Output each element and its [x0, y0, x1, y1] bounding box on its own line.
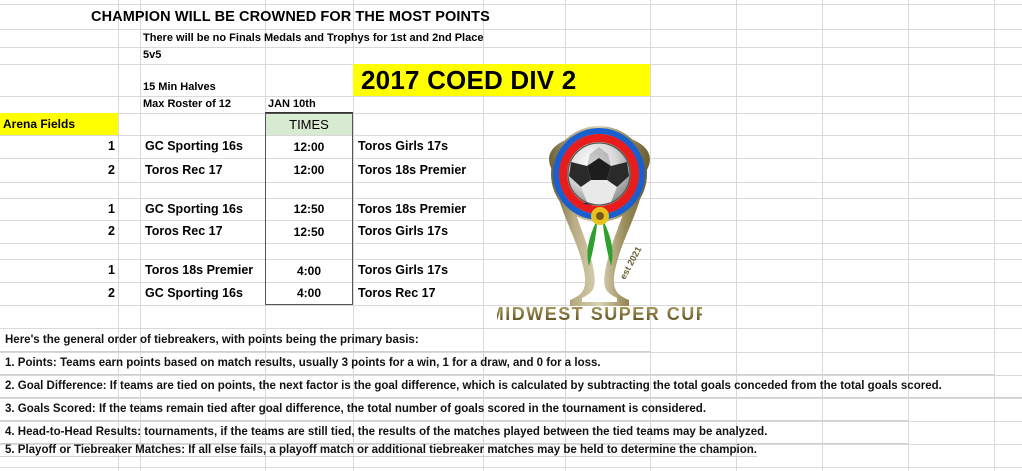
schedule-field-number: 2 — [0, 158, 118, 182]
schedule-team-home — [140, 182, 265, 198]
schedule-time — [265, 243, 353, 259]
midwest-super-cup-logo: est 2021 MIDWEST SUPER CUP — [497, 112, 702, 324]
schedule-field-number: 2 — [0, 282, 118, 305]
schedule-team-home — [140, 243, 265, 259]
format-label: 5v5 — [140, 47, 164, 64]
schedule-team-away: Toros Girls 17s — [353, 135, 483, 158]
schedule-field-number — [0, 182, 118, 198]
tiebreaker-item: 2. Goal Difference: If teams are tied on… — [0, 375, 1022, 398]
schedule-team-away: Toros 18s Premier — [353, 198, 483, 220]
tiebreaker-item: 4. Head-to-Head Results: tournaments, if… — [0, 421, 908, 444]
schedule-time — [265, 182, 353, 198]
date-header: JAN 10th — [265, 96, 353, 113]
roster-label: Max Roster of 12 — [140, 96, 234, 113]
tiebreaker-item: 1. Points: Teams earn points based on ma… — [0, 352, 994, 375]
logo-wordmark: MIDWEST SUPER CUP — [497, 304, 702, 324]
schedule-time: 12:50 — [265, 198, 353, 220]
trophy-icon: est 2021 MIDWEST SUPER CUP — [497, 112, 702, 324]
tiebreaker-item: 5. Playoff or Tiebreaker Matches: If all… — [0, 444, 757, 457]
schedule-team-away — [353, 182, 483, 198]
arena-fields-label: Arena Fields — [0, 113, 118, 135]
tiebreaker-item: 3. Goals Scored: If the teams remain tie… — [0, 398, 908, 421]
tiebreakers-intro: Here's the general order of tiebreakers,… — [0, 328, 650, 352]
schedule-team-home: Toros Rec 17 — [140, 158, 265, 182]
schedule-team-home: GC Sporting 16s — [140, 135, 265, 158]
schedule-team-away — [353, 243, 483, 259]
schedule-team-home: Toros Rec 17 — [140, 220, 265, 243]
finals-note: There will be no Finals Medals and Troph… — [140, 29, 486, 47]
schedule-field-number: 1 — [0, 135, 118, 158]
schedule-team-away: Toros Girls 17s — [353, 220, 483, 243]
schedule-field-number: 1 — [0, 259, 118, 282]
est-year-text: est 2021 — [618, 245, 644, 281]
times-column-header: TIMES — [265, 113, 353, 135]
halves-label: 15 Min Halves — [140, 79, 219, 96]
schedule-team-home: Toros 18s Premier — [140, 259, 265, 282]
schedule-team-away: Toros 18s Premier — [353, 158, 483, 182]
schedule-time: 4:00 — [265, 259, 353, 282]
schedule-team-away: Toros Rec 17 — [353, 282, 483, 305]
schedule-field-number: 1 — [0, 198, 118, 220]
champion-banner: CHAMPION WILL BE CROWNED FOR THE MOST PO… — [88, 5, 493, 29]
schedule-team-home: GC Sporting 16s — [140, 282, 265, 305]
schedule-time: 12:00 — [265, 158, 353, 182]
soccer-ball-icon — [568, 143, 630, 205]
division-title: 2017 COED DIV 2 — [353, 64, 650, 96]
schedule-field-number: 2 — [0, 220, 118, 243]
schedule-team-away: Toros Girls 17s — [353, 259, 483, 282]
schedule-time: 4:00 — [265, 282, 353, 305]
schedule-field-number — [0, 243, 118, 259]
schedule-time: 12:50 — [265, 220, 353, 243]
spreadsheet-canvas: CHAMPION WILL BE CROWNED FOR THE MOST PO… — [0, 0, 1022, 471]
schedule-team-home: GC Sporting 16s — [140, 198, 265, 220]
schedule-time: 12:00 — [265, 135, 353, 158]
